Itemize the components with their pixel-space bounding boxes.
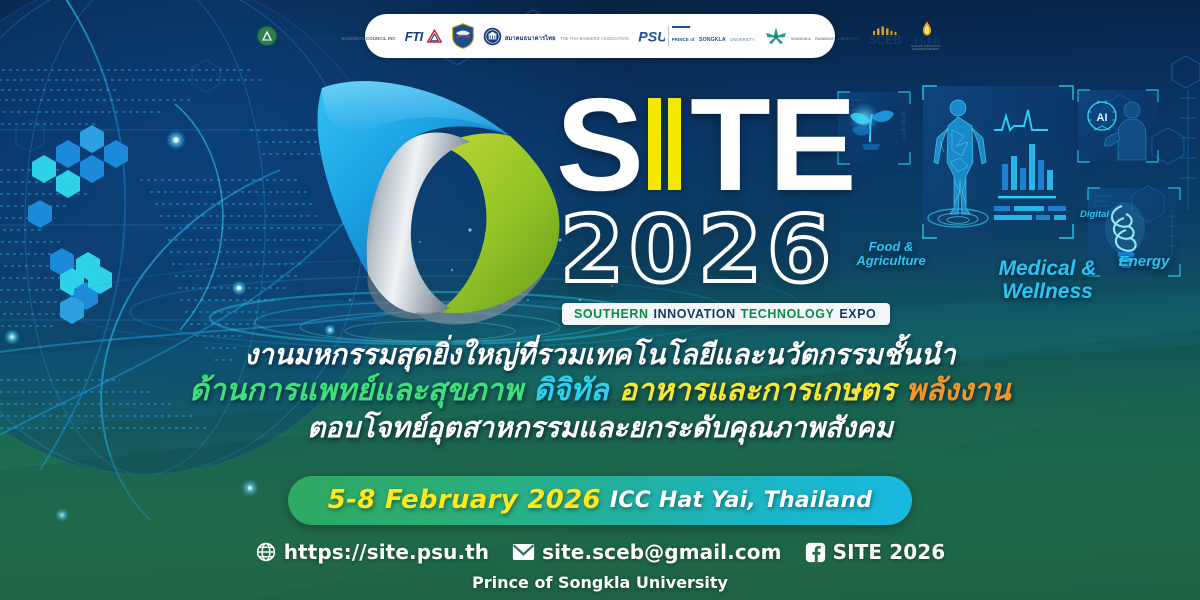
partner-label-line3: UNIVERSITY [838, 37, 860, 41]
partner-label-line3: UNIVERSITY [730, 37, 755, 42]
organizer-name: Prince of Songkla University [0, 573, 1200, 592]
tagline-word-expo: EXPO [839, 307, 876, 321]
hexagon-solid-cluster [28, 125, 128, 324]
partner-logo-bar: ASIAN AUSTRALIAN BUSINESS COUNCIL INC FT… [365, 14, 835, 58]
thai-headline-block: งานมหกรรมสุดยิ่งใหญ่ที่รวมเทคโนโลยีและนว… [0, 338, 1200, 446]
partner-label-line1: SONGKHLA [791, 37, 811, 41]
event-date: 5-8 February 2026 [328, 485, 601, 515]
partner-label-line2: THE THAI BANKERS' ASSOCIATION [560, 36, 629, 41]
contact-email[interactable]: site.sceb@gmail.com [512, 540, 781, 564]
tagline-word-innovation: INNOVATION [654, 307, 736, 321]
site-letter-t: T [690, 92, 769, 198]
partner-label-line2: SONGKLA [699, 37, 726, 43]
site-letter-e: E [769, 92, 855, 198]
partner-label-line1: สมาคมธนาคารไทย [505, 36, 556, 42]
mark-ribbon-green [438, 133, 559, 313]
headline-line-3: ตอบโจทย์อุตสาหกรรมและยกระดับคุณภาพสังคม [0, 410, 1200, 446]
thai-chamber-shield-logo [452, 23, 474, 49]
site-bar-1 [648, 98, 661, 190]
tagline-word-technology: TECHNOLOGY [741, 307, 835, 321]
site-2026-promo-banner: ASIAN AUSTRALIAN BUSINESS COUNCIL INC FT… [0, 0, 1200, 600]
tceb-logo [920, 21, 934, 36]
partner-logo-songkhla-rajabhat: SONGKHLA RAJABHAT UNIVERSITY [764, 25, 860, 47]
contact-website[interactable]: https://site.psu.th [255, 540, 489, 564]
site-letter-s: S [556, 92, 642, 198]
headline-segment-digital: ดิจิทัล [533, 373, 608, 408]
theme-panel-digital: AI [1078, 90, 1158, 162]
theme-label-energy: Energy [1094, 254, 1194, 270]
partner-label-line2: BUSINESS COUNCIL INC [341, 36, 395, 41]
theme-panel-medical [923, 86, 1073, 238]
event-venue: ICC Hat Yai, Thailand [610, 488, 872, 513]
songkhla-rajabhat-logo [764, 25, 788, 47]
theme-label-medical-line1: Medical & [998, 257, 1096, 280]
contact-facebook-text: SITE 2026 [833, 540, 946, 564]
fti-logo [426, 28, 443, 45]
envelope-icon [512, 543, 535, 561]
partner-label-line1: PRINCE of [672, 37, 695, 42]
partner-logo-fti: FTI [405, 28, 443, 45]
psu-logo: PSU [638, 27, 665, 46]
headline-line-2: ด้านการแพทย์และสุขภาพ ดิจิทัล อาหารและกา… [0, 372, 1200, 410]
headline-line-1: งานมหกรรมสุดยิ่งใหญ่ที่รวมเทคโนโลยีและนว… [0, 338, 1200, 372]
glow-dots [4, 130, 336, 522]
thai-bankers-association-logo [483, 27, 502, 46]
site-letters-row: S T E [556, 92, 890, 198]
tceb-wordmark: TCEB [913, 36, 940, 45]
sceb-wordmark: SCEB [869, 36, 902, 48]
theme-label-digital: Digital [1080, 210, 1109, 220]
headline-segment-food: อาหารและการเกษตร [619, 373, 895, 408]
headline-segment-medical: ด้านการแพทย์และสุขภาพ [189, 373, 522, 408]
site-wordmark: S T E 2026 SOUTHERN INNOVATION TECHNOLOG… [556, 92, 890, 325]
site-bar-2 [668, 98, 681, 190]
contact-row: https://site.psu.th site.sceb@gmail.com [248, 540, 953, 564]
partner-logo-thai-chamber [452, 23, 474, 49]
tceb-sub2: & EXHIBITION BUREAU [912, 48, 939, 51]
contact-footer: https://site.psu.th site.sceb@gmail.com [0, 540, 1200, 592]
partner-label-line1: ASIAN AUSTRALIAN [280, 36, 337, 42]
globe-icon [255, 541, 277, 563]
site-triangle-swirl-mark [300, 78, 575, 333]
partner-logo-psu: PSU PRINCE of SONGKLA UNIVERSITY [638, 26, 755, 45]
partner-logo-asian-australian: ASIAN AUSTRALIAN BUSINESS COUNCIL INC [257, 26, 396, 46]
site-tagline-pill: SOUTHERN INNOVATION TECHNOLOGY EXPO [562, 303, 890, 325]
partner-logo-thai-bankers: สมาคมธนาคารไทย THE THAI BANKERS' ASSOCIA… [483, 27, 629, 46]
headline-segment-energy: พลังงาน [906, 373, 1011, 408]
svg-text:AI: AI [1097, 112, 1108, 124]
asian-australian-business-council-logo [257, 26, 277, 46]
partner-logo-sceb: SCEB [869, 25, 902, 48]
contact-website-text: https://site.psu.th [284, 540, 489, 564]
site-yellow-bars [648, 98, 681, 190]
theme-label-medical-line2: Wellness [1002, 280, 1093, 303]
site-year: 2026 [560, 210, 890, 289]
event-date-venue-wrap: 5-8 February 2026 ICC Hat Yai, Thailand [0, 476, 1200, 525]
partner-label-line2: RAJABHAT [815, 37, 834, 41]
event-date-pill: 5-8 February 2026 ICC Hat Yai, Thailand [288, 476, 913, 525]
svg-text:PSU: PSU [638, 29, 665, 45]
contact-facebook[interactable]: SITE 2026 [805, 540, 946, 564]
contact-email-text: site.sceb@gmail.com [542, 540, 781, 564]
fti-wordmark: FTI [405, 29, 423, 44]
partner-logo-tceb: TCEB THAILAND CONVENTION & EXHIBITION BU… [911, 21, 943, 51]
facebook-icon [805, 542, 826, 563]
tagline-word-southern: SOUTHERN [574, 307, 649, 321]
